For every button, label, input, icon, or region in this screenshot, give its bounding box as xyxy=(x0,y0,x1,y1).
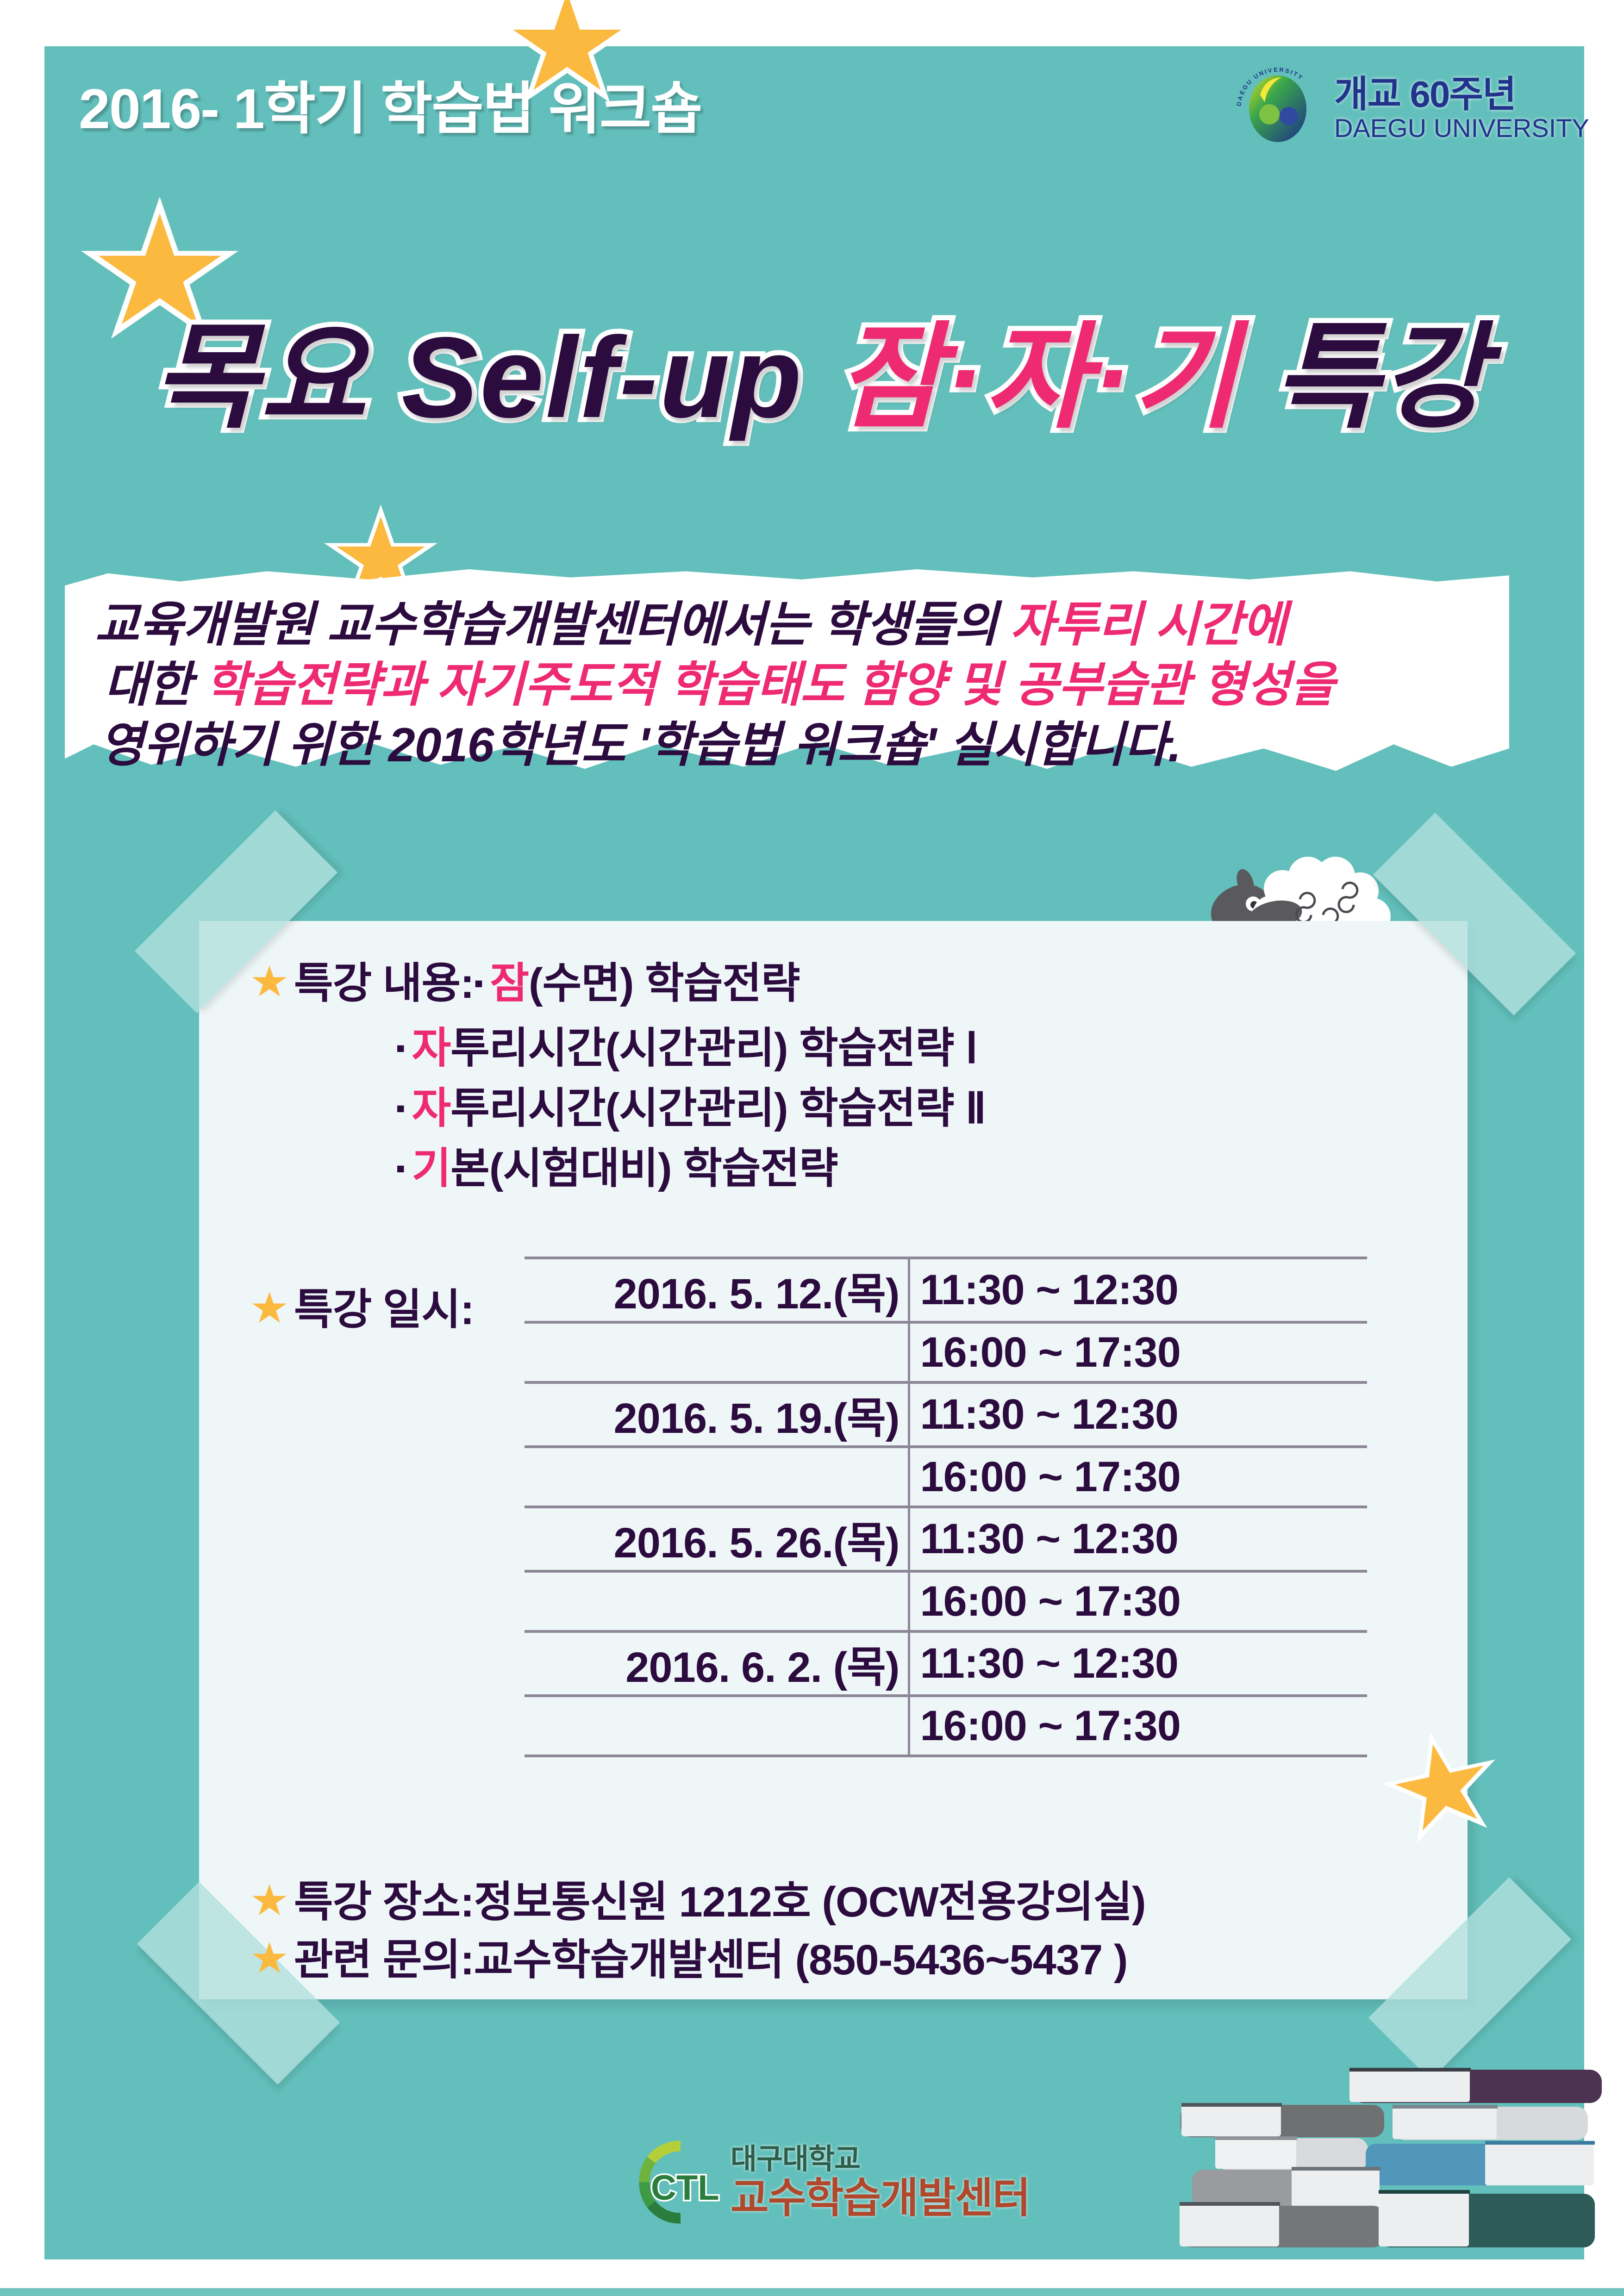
page-title: 2016- 1학기 학습법 워크숍 xyxy=(79,69,866,148)
poster-root: 2016- 1학기 학습법 워크숍 DAEGU UNIV xyxy=(0,0,1624,2296)
table-row: 16:00 ~ 17:30 xyxy=(525,1447,1367,1507)
ctl-mark-icon: CTL xyxy=(634,2136,722,2228)
schedule-time: 11:30 ~ 12:30 xyxy=(909,1258,1367,1322)
schedule-time: 11:30 ~ 12:30 xyxy=(909,1382,1367,1447)
schedule-date: 2016. 5. 12.(목) xyxy=(525,1258,909,1322)
lecture-item-keyword: 기 xyxy=(412,1145,451,1192)
lecture-content-row: ▪ 자투리시간(시간관리) 학습전략 Ⅱ xyxy=(396,1083,986,1134)
list-bullet: ▪ xyxy=(396,1143,406,1194)
schedule-label: 특강 일시: xyxy=(294,1284,474,1335)
lecture-item-keyword: 자 xyxy=(412,1025,451,1072)
table-row: 2016. 5. 12.(목) 11:30 ~ 12:30 xyxy=(525,1258,1367,1322)
hero-title: 목요 Self-up 잠·자·기 특강 xyxy=(153,301,1542,454)
list-bullet: ▪ xyxy=(396,1023,406,1074)
schedule-date xyxy=(525,1447,909,1507)
hero-title-part2: 잠·자·기 xyxy=(837,313,1240,442)
description-line3: 영위하기 위한 2016학년도 '학습법 워크숍' 실시합니다. xyxy=(100,718,1181,772)
list-bullet: ▪ xyxy=(396,1083,406,1134)
schedule-date xyxy=(525,1322,909,1382)
contact-value: 교수학습개발센터 (850-5436~5437 ) xyxy=(474,1935,1128,1985)
bottom-accent-bar xyxy=(0,2288,1624,2296)
schedule-time: 16:00 ~ 17:30 xyxy=(909,1447,1367,1507)
star-icon xyxy=(252,1942,287,1975)
hero-title-part3: 특강 xyxy=(1240,313,1488,442)
description-line1-pink: 자투리 시간에 xyxy=(1010,598,1286,652)
lecture-item-rest: 투리시간(시간관리) 학습전략 Ⅰ xyxy=(450,1025,977,1072)
list-item: 자투리시간(시간관리) 학습전략 Ⅱ xyxy=(412,1083,986,1134)
list-bullet: ▪ xyxy=(474,958,484,1009)
lecture-content-row: ▪ 기본(시험대비) 학습전략 xyxy=(396,1143,838,1194)
description-line2-dark: 대한 xyxy=(104,658,205,712)
description-line2-pink: 학습전략과 자기주도적 학습태도 함양 및 공부습관 형성을 xyxy=(205,658,1334,712)
table-row: 2016. 5. 19.(목) 11:30 ~ 12:30 xyxy=(525,1382,1367,1447)
venue-row: 특강 장소: 정보통신원 1212호 (OCW전용강의실) xyxy=(252,1877,1146,1928)
lecture-item-rest: 투리시간(시간관리) 학습전략 Ⅱ xyxy=(450,1085,986,1132)
star-icon xyxy=(252,1884,287,1917)
schedule-date: 2016. 5. 26.(목) xyxy=(525,1507,909,1571)
list-item: 기본(시험대비) 학습전략 xyxy=(412,1143,838,1194)
description-text: 교육개발원 교수학습개발센터에서는 학생들의 자투리 시간에 대한 학습전략과 … xyxy=(95,595,1488,775)
lecture-content-label: 특강 내용: xyxy=(294,958,474,1009)
anniversary-emblem-icon: DAEGU UNIVERSITY 60th ANNIVERSARY xyxy=(1231,62,1324,155)
table-row: 2016. 5. 26.(목) 11:30 ~ 12:30 xyxy=(525,1507,1367,1571)
table-row: 2016. 6. 2. (목) 11:30 ~ 12:30 xyxy=(525,1631,1367,1696)
schedule-date xyxy=(525,1571,909,1631)
venue-label: 특강 장소: xyxy=(294,1877,474,1928)
schedule-table: 2016. 5. 12.(목) 11:30 ~ 12:30 16:00 ~ 17… xyxy=(525,1257,1367,1757)
contact-row: 관련 문의: 교수학습개발센터 (850-5436~5437 ) xyxy=(252,1935,1127,1985)
table-row: 16:00 ~ 17:30 xyxy=(525,1696,1367,1756)
lecture-item-rest: 본(시험대비) 학습전략 xyxy=(450,1145,838,1192)
schedule-time: 11:30 ~ 12:30 xyxy=(909,1507,1367,1571)
schedule-date: 2016. 6. 2. (목) xyxy=(525,1631,909,1696)
schedule-time: 16:00 ~ 17:30 xyxy=(909,1322,1367,1382)
star-icon xyxy=(252,1292,287,1325)
list-item: 잠(수면) 학습전략 xyxy=(490,958,800,1009)
schedule-time: 11:30 ~ 12:30 xyxy=(909,1631,1367,1696)
lecture-item-rest: (수면) 학습전략 xyxy=(529,960,800,1007)
schedule-label-row: 특강 일시: xyxy=(252,1284,474,1335)
list-item: 자투리시간(시간관리) 학습전략 Ⅰ xyxy=(412,1023,978,1074)
ctl-university-name: 대구대학교 xyxy=(731,2143,1030,2176)
lecture-content-row: ▪ 자투리시간(시간관리) 학습전략 Ⅰ xyxy=(396,1023,977,1074)
schedule-date: 2016. 5. 19.(목) xyxy=(525,1382,909,1447)
schedule-time: 16:00 ~ 17:30 xyxy=(909,1696,1367,1756)
lecture-content-row: 특강 내용: ▪ 잠(수면) 학습전략 xyxy=(252,958,800,1009)
ctl-logo: CTL 대구대학교 교수학습개발센터 xyxy=(634,2122,1060,2242)
schedule-date xyxy=(525,1696,909,1756)
table-row: 16:00 ~ 17:30 xyxy=(525,1571,1367,1631)
lecture-item-keyword: 자 xyxy=(412,1085,451,1132)
table-row: 16:00 ~ 17:30 xyxy=(525,1322,1367,1382)
schedule-time: 16:00 ~ 17:30 xyxy=(909,1571,1367,1631)
lecture-item-keyword: 잠 xyxy=(490,960,529,1007)
star-icon xyxy=(252,965,287,999)
venue-value: 정보통신원 1212호 (OCW전용강의실) xyxy=(474,1877,1146,1928)
ctl-center-name: 교수학습개발센터 xyxy=(731,2176,1030,2221)
anniversary-logo: DAEGU UNIVERSITY 60th ANNIVERSARY 개교 60주… xyxy=(1231,60,1588,157)
svg-text:CTL: CTL xyxy=(651,2168,719,2208)
description-line1-dark: 교육개발원 교수학습개발센터에서는 학생들의 xyxy=(95,598,1010,652)
anniversary-label-kr: 개교 60주년 xyxy=(1334,75,1589,114)
contact-label: 관련 문의: xyxy=(294,1935,474,1985)
book-stack-icon xyxy=(1153,2055,1624,2263)
anniversary-label-en: DAEGU UNIVERSITY xyxy=(1334,114,1589,143)
hero-title-part1: 목요 Self-up xyxy=(153,313,837,442)
